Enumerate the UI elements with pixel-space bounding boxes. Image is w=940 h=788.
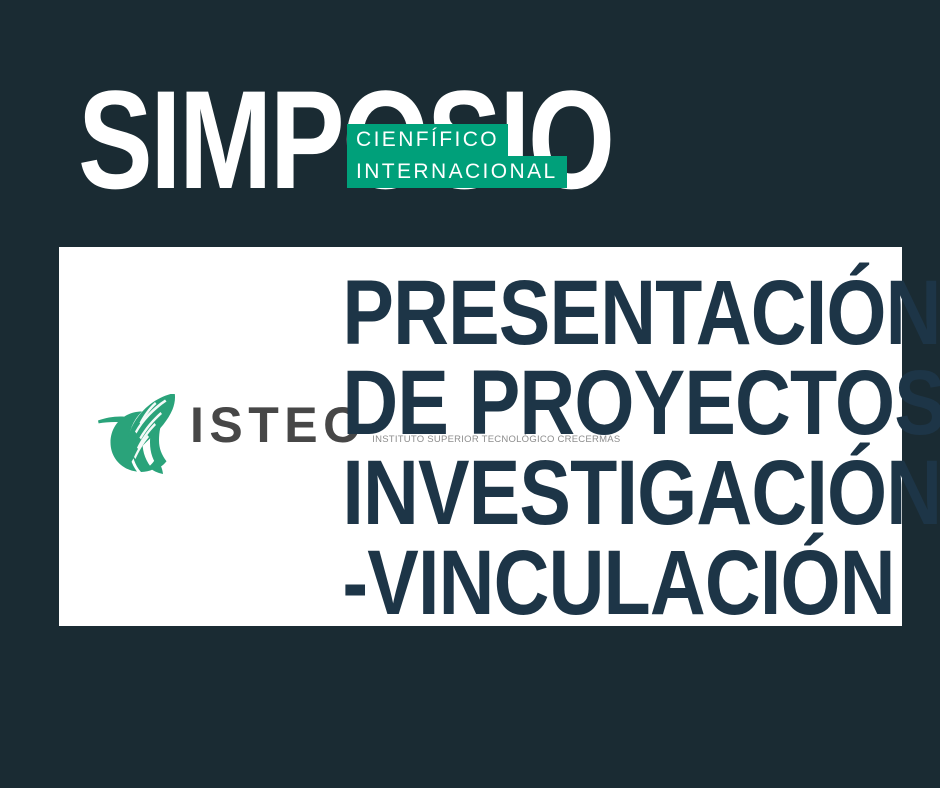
event-subtitle-badges: CIENFÍFICO INTERNACIONAL bbox=[347, 124, 567, 188]
istec-hummingbird-leaf-icon bbox=[96, 392, 178, 476]
headline-line-4: -VINCULACIÓN bbox=[342, 538, 880, 628]
content-card: ISTEC INSTITUTO SUPERIOR TECNOLÓGICO CRE… bbox=[59, 247, 902, 626]
badge-internacional: INTERNACIONAL bbox=[347, 156, 567, 188]
headline-block: PRESENTACIÓN DE PROYECTOS INVESTIGACIÓN … bbox=[240, 268, 880, 628]
headline-line-3: INVESTIGACIÓN bbox=[342, 448, 880, 538]
poster-canvas: SIMPOSIO CIENFÍFICO INTERNACIONAL bbox=[0, 0, 940, 788]
brand-lockup: SIMPOSIO CIENFÍFICO INTERNACIONAL bbox=[0, 0, 940, 247]
badge-cientifico: CIENFÍFICO bbox=[347, 124, 508, 156]
headline-line-1: PRESENTACIÓN bbox=[342, 268, 880, 358]
headline-line-2: DE PROYECTOS bbox=[342, 358, 880, 448]
